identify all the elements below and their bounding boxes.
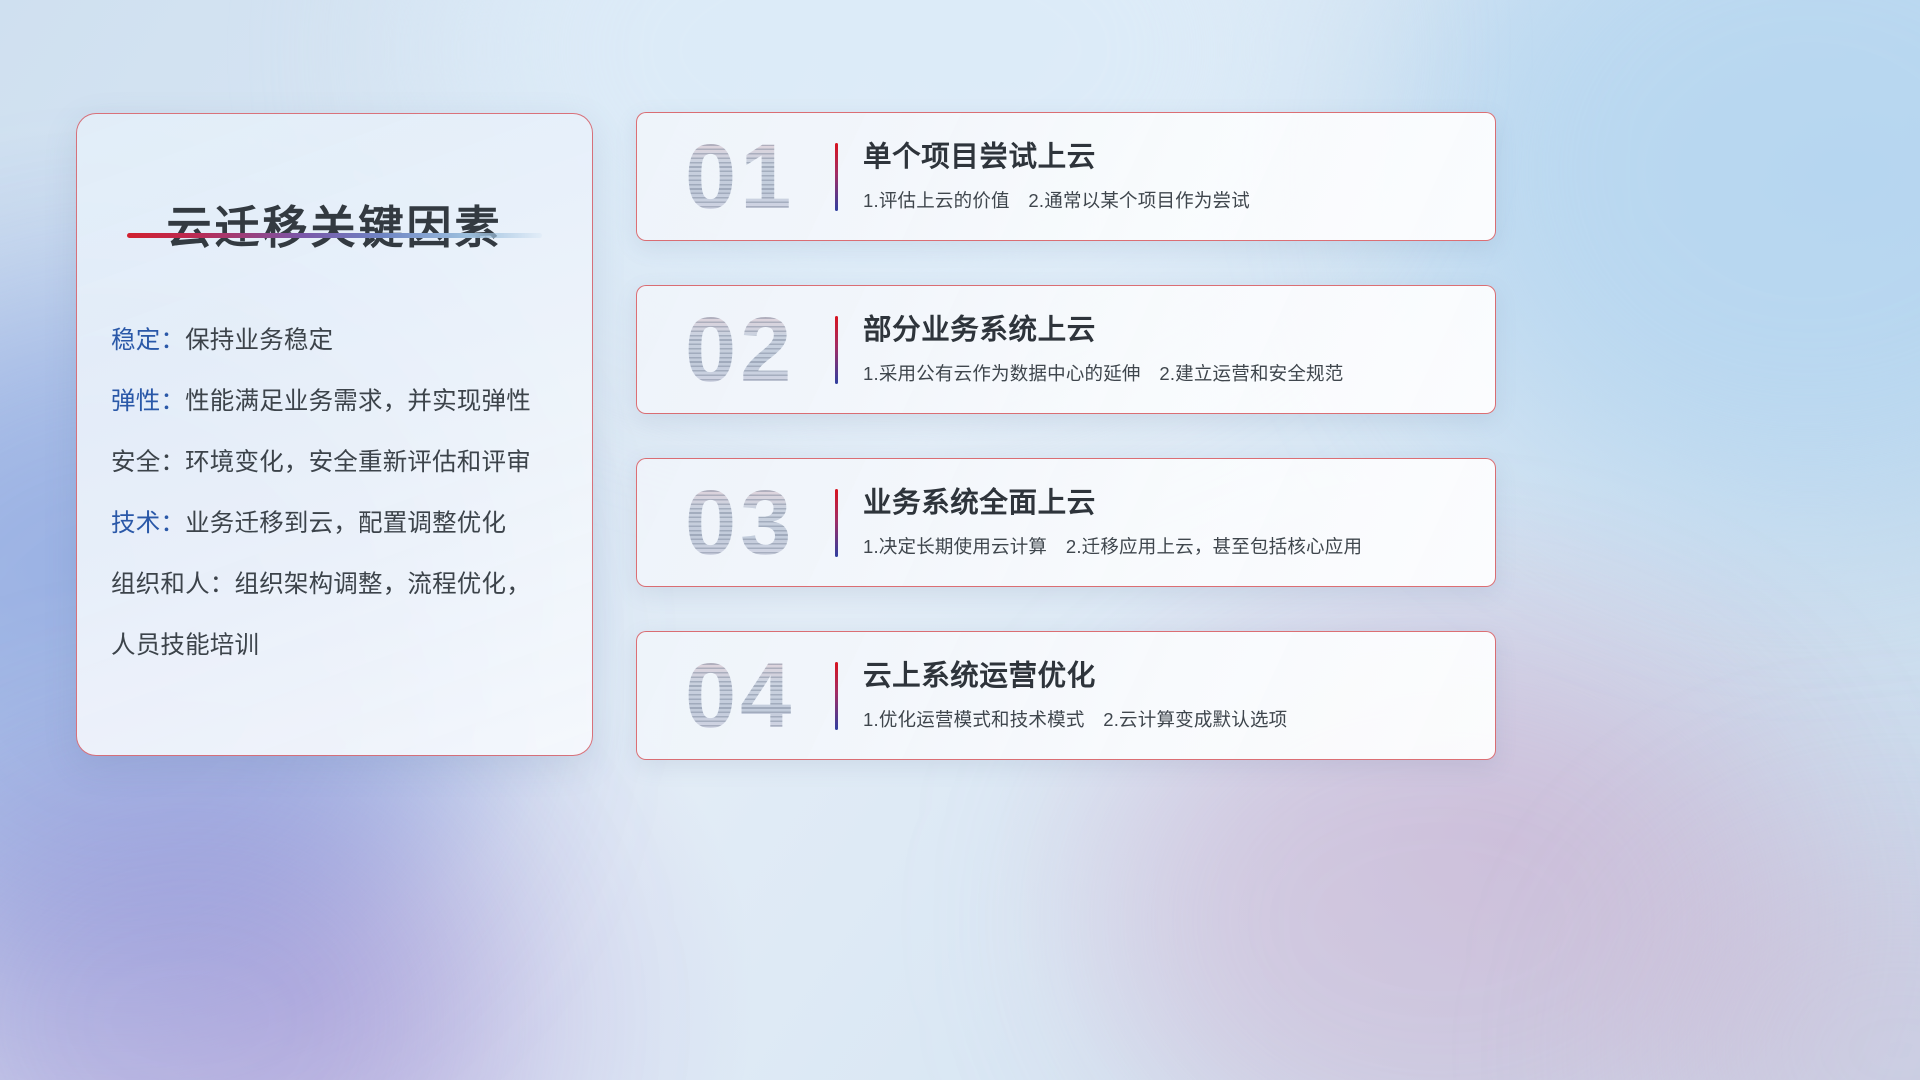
slide-canvas: 云迁移关键因素 稳定：保持业务稳定弹性：性能满足业务需求，并实现弹性安全：环境变… — [0, 0, 1920, 1080]
factor-row: 稳定：保持业务稳定 — [111, 310, 572, 371]
stage-divider-accent — [835, 489, 838, 557]
stage-card[interactable]: 02部分业务系统上云1.采用公有云作为数据中心的延伸 2.建立运营和安全规范 — [636, 285, 1496, 414]
stage-title: 业务系统全面上云 — [863, 483, 1475, 523]
stage-body: 云上系统运营优化1.优化运营模式和技术模式 2.云计算变成默认选项 — [863, 656, 1475, 733]
factors-list: 稳定：保持业务稳定弹性：性能满足业务需求，并实现弹性安全：环境变化，安全重新评估… — [111, 310, 572, 676]
page-title: 云迁移关键因素 — [77, 191, 592, 256]
stage-description: 1.采用公有云作为数据中心的延伸 2.建立运营和安全规范 — [863, 361, 1475, 387]
stage-description: 1.决定长期使用云计算 2.迁移应用上云，甚至包括核心应用 — [863, 534, 1475, 560]
stage-title: 部分业务系统上云 — [863, 310, 1475, 350]
factor-label: 稳定： — [111, 327, 185, 354]
stage-divider-accent — [835, 143, 838, 211]
stage-title: 单个项目尝试上云 — [863, 137, 1475, 177]
factor-text: 组织架构调整，流程优化， — [235, 571, 531, 598]
stages-card-list: 01单个项目尝试上云1.评估上云的价值 2.通常以某个项目作为尝试02部分业务系… — [636, 112, 1496, 760]
factor-text: 性能满足业务需求，并实现弹性 — [185, 388, 531, 415]
factor-label: 组织和人： — [111, 571, 235, 598]
factor-row: 组织和人：组织架构调整，流程优化， — [111, 554, 572, 615]
factor-text: 保持业务稳定 — [185, 327, 333, 354]
factor-text: 环境变化，安全重新评估和评审 — [185, 449, 531, 476]
factor-label: 技术： — [111, 510, 185, 537]
stage-body: 部分业务系统上云1.采用公有云作为数据中心的延伸 2.建立运营和安全规范 — [863, 310, 1475, 387]
factor-text: 人员技能培训 — [111, 632, 259, 659]
background-blob-bottom-left — [0, 760, 500, 1080]
factor-label: 安全： — [111, 449, 185, 476]
key-factors-panel: 云迁移关键因素 稳定：保持业务稳定弹性：性能满足业务需求，并实现弹性安全：环境变… — [76, 113, 593, 756]
background-blob-corner — [1640, 840, 1920, 1080]
factor-row: 弹性：性能满足业务需求，并实现弹性 — [111, 371, 572, 432]
stage-title: 云上系统运营优化 — [863, 656, 1475, 696]
title-underline-accent — [127, 233, 542, 238]
factor-row: 人员技能培训 — [111, 615, 572, 676]
factor-text: 业务迁移到云，配置调整优化 — [185, 510, 506, 537]
stage-number: 01 — [685, 131, 795, 223]
stage-number: 02 — [685, 304, 795, 396]
stage-card[interactable]: 03业务系统全面上云1.决定长期使用云计算 2.迁移应用上云，甚至包括核心应用 — [636, 458, 1496, 587]
stage-divider-accent — [835, 662, 838, 730]
factor-row: 技术：业务迁移到云，配置调整优化 — [111, 493, 572, 554]
factor-row: 安全：环境变化，安全重新评估和评审 — [111, 432, 572, 493]
stage-divider-accent — [835, 316, 838, 384]
stage-number: 03 — [685, 477, 795, 569]
stage-description: 1.优化运营模式和技术模式 2.云计算变成默认选项 — [863, 707, 1475, 733]
stage-card[interactable]: 04云上系统运营优化1.优化运营模式和技术模式 2.云计算变成默认选项 — [636, 631, 1496, 760]
stage-body: 单个项目尝试上云1.评估上云的价值 2.通常以某个项目作为尝试 — [863, 137, 1475, 214]
stage-description: 1.评估上云的价值 2.通常以某个项目作为尝试 — [863, 188, 1475, 214]
factor-label: 弹性： — [111, 388, 185, 415]
stage-body: 业务系统全面上云1.决定长期使用云计算 2.迁移应用上云，甚至包括核心应用 — [863, 483, 1475, 560]
stage-card[interactable]: 01单个项目尝试上云1.评估上云的价值 2.通常以某个项目作为尝试 — [636, 112, 1496, 241]
stage-number: 04 — [685, 650, 795, 742]
